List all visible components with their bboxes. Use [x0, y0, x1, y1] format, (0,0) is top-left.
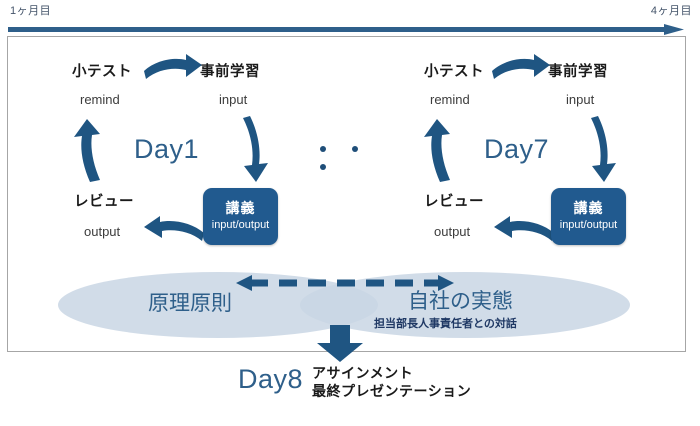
day7-arrow-right-icon [490, 52, 552, 84]
diagram-canvas: 1ヶ月目 4ヶ月目 小テスト remind 事前学習 input Day1 レビ… [0, 0, 700, 426]
day1-arrow-left-icon [142, 214, 204, 246]
dashed-double-arrow-icon [214, 274, 476, 292]
day1-input-label: input [219, 92, 247, 107]
day1-title: Day1 [134, 134, 199, 165]
day1-output-label: output [84, 224, 120, 239]
day7-lecture-box: 講義 input/output [551, 188, 626, 245]
arrow-down-block-icon [315, 325, 365, 363]
day7-review-label: レビュー [424, 190, 484, 211]
timeline-arrow-icon [8, 24, 684, 35]
day1-remind-label: remind [80, 92, 120, 107]
dot-1 [320, 146, 326, 152]
timeline-header: 1ヶ月目 4ヶ月目 [0, 0, 700, 36]
day7-prestudy-label: 事前学習 [548, 60, 608, 81]
ellipsis-dots [320, 140, 400, 154]
day1-prestudy-label: 事前学習 [200, 60, 260, 81]
day7-remind-label: remind [430, 92, 470, 107]
day1-small-test-label: 小テスト [72, 60, 132, 81]
day7-arrow-up-icon [420, 118, 456, 184]
day1-arrow-down-icon [242, 114, 280, 184]
timeline-end-label: 4ヶ月目 [651, 2, 692, 18]
day7-title: Day7 [484, 134, 549, 165]
day1-lecture-subtitle: input/output [212, 218, 270, 232]
day8-line1: アサインメント [312, 365, 471, 383]
day7-lecture-title: 講義 [574, 201, 604, 216]
venn-right-sublabel: 担当部長人事責任者との対話 [374, 315, 517, 331]
day1-lecture-box: 講義 input/output [203, 188, 278, 245]
day8-line2: 最終プレゼンテーション [312, 383, 471, 401]
day8-description: アサインメント 最終プレゼンテーション [312, 365, 471, 400]
day7-arrow-down-icon [590, 114, 628, 184]
timeline-start-label: 1ヶ月目 [10, 2, 51, 18]
day7-output-label: output [434, 224, 470, 239]
day8-group: Day8 [238, 364, 303, 395]
day7-small-test-label: 小テスト [424, 60, 484, 81]
day7-input-label: input [566, 92, 594, 107]
day8-title: Day8 [238, 364, 303, 394]
day7-lecture-subtitle: input/output [560, 218, 618, 232]
day1-lecture-title: 講義 [226, 201, 256, 216]
dot-2 [352, 146, 358, 152]
day1-arrow-up-icon [70, 118, 106, 184]
dot-3 [320, 164, 326, 170]
day7-arrow-left-icon [492, 214, 554, 246]
day1-review-label: レビュー [74, 190, 134, 211]
day1-arrow-right-icon [142, 52, 204, 84]
